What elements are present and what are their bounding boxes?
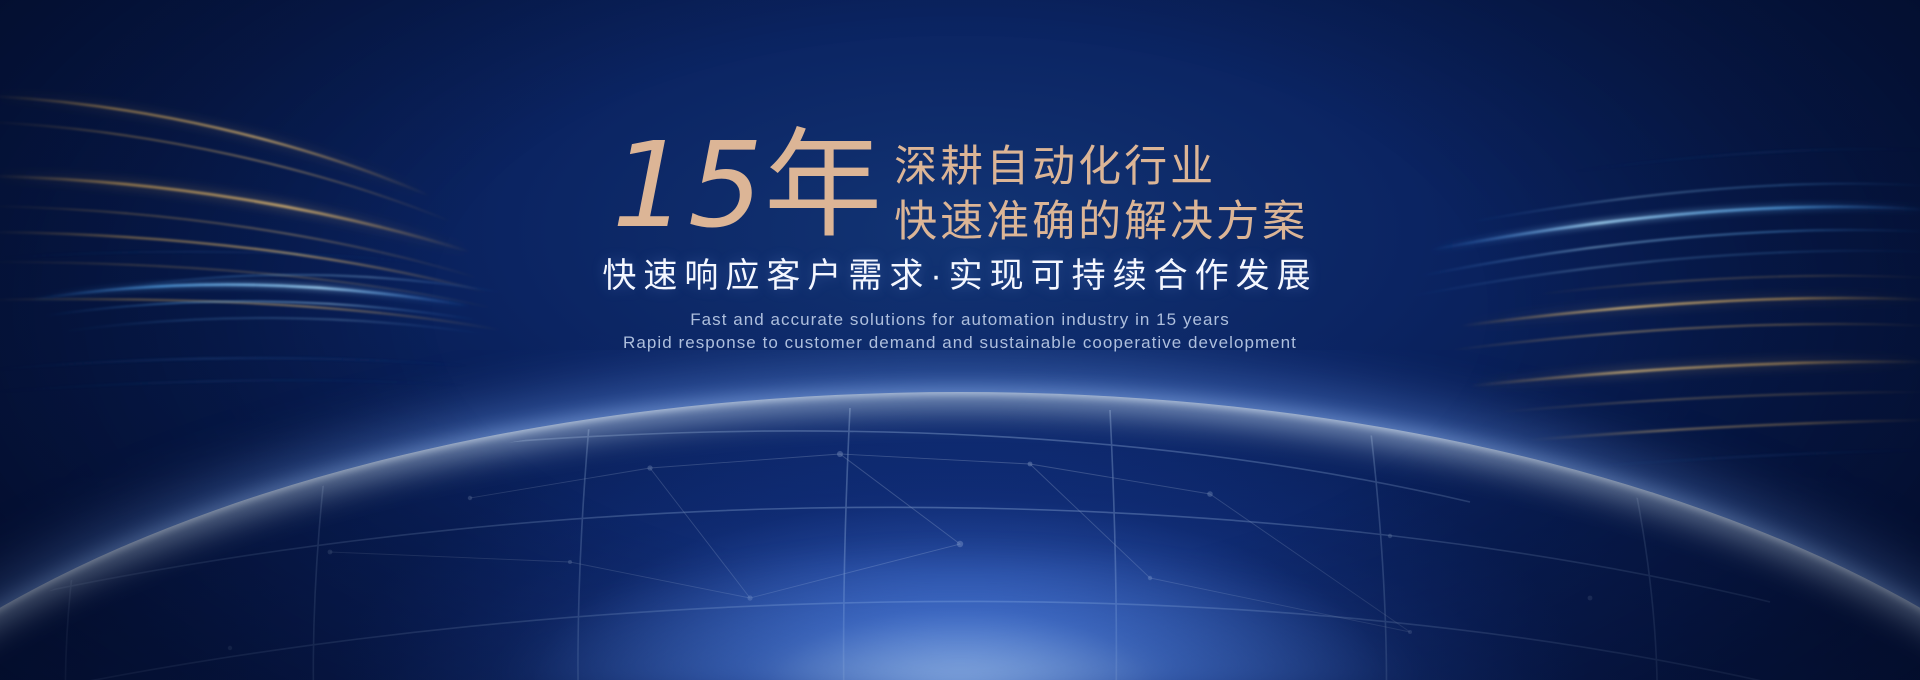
subtitle-chinese: 快速响应客户需求·实现可持续合作发展 xyxy=(602,254,1317,298)
subtitle-english-block: Fast and accurate solutions for automati… xyxy=(623,308,1297,354)
streak-group-left-gold-glow xyxy=(0,96,470,252)
gold-slogan-line-1: 深耕自动化行业 xyxy=(894,140,1308,195)
gold-slogan-line-2: 快速准确的解决方案 xyxy=(894,195,1308,250)
years-badge: 15年 xyxy=(612,130,880,241)
globe-sphere xyxy=(0,392,1920,680)
streak-group-right-dim xyxy=(1570,149,1920,468)
decorative-light-streaks xyxy=(0,0,1920,680)
streak-group-right-gold-glow xyxy=(1460,298,1920,386)
years-unit: 年 xyxy=(764,116,880,254)
streak-group-left-cyan-glow xyxy=(30,285,470,306)
globe-atmosphere-glow xyxy=(310,386,1610,680)
streak-group-right-cyan xyxy=(1412,184,1920,296)
vignette-overlay xyxy=(0,0,1920,680)
streak-group-right-cyan-glow xyxy=(1430,207,1920,250)
headline-row: 15年 深耕自动化行业 快速准确的解决方案 xyxy=(612,136,1308,250)
streak-group-left-cyan xyxy=(30,275,500,334)
streak-group-left-gold xyxy=(0,96,500,330)
globe-surface-texture xyxy=(0,402,1920,680)
banner-content: 15年 深耕自动化行业 快速准确的解决方案 快速响应客户需求·实现可持续合作发展… xyxy=(0,0,1920,680)
streak-group-right-gold xyxy=(1452,276,1920,440)
subtitle-english-line-1: Fast and accurate solutions for automati… xyxy=(623,308,1297,331)
earth-globe xyxy=(0,350,1920,680)
gold-slogan-lines: 深耕自动化行业 快速准确的解决方案 xyxy=(894,136,1308,250)
subtitle-english-line-2: Rapid response to customer demand and su… xyxy=(623,331,1297,354)
globe-rim-highlight xyxy=(0,392,1920,680)
years-number: 15 xyxy=(612,116,764,254)
streak-group-left-dim xyxy=(0,252,470,392)
hero-banner: 15年 深耕自动化行业 快速准确的解决方案 快速响应客户需求·实现可持续合作发展… xyxy=(0,0,1920,680)
